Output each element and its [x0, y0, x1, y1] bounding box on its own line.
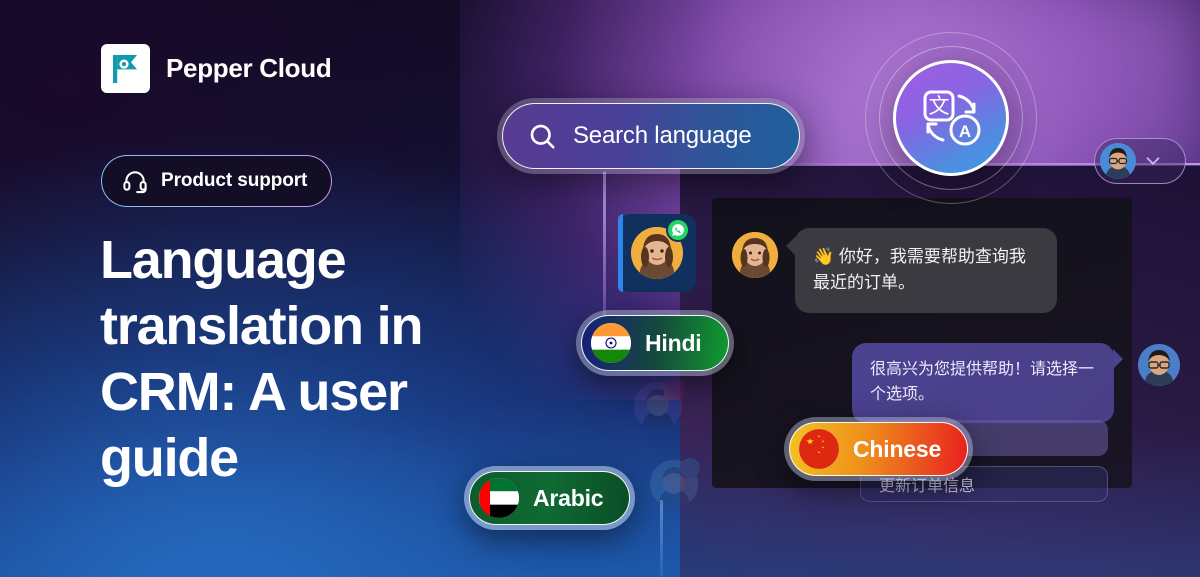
- user-menu-chip[interactable]: [1094, 138, 1186, 184]
- chevron-down-icon[interactable]: [1142, 150, 1164, 172]
- connector-line-vertical: [603, 172, 606, 332]
- language-label: Arabic: [533, 485, 603, 512]
- language-pill-chinese[interactable]: Chinese: [784, 417, 973, 481]
- customer-avatar: [732, 232, 778, 278]
- china-flag-glyph: [799, 429, 839, 469]
- svg-text:A: A: [959, 122, 971, 141]
- incoming-message-text: 你好，我需要帮助查询我最近的订单。: [813, 247, 1026, 292]
- wave-emoji: 👋: [813, 247, 834, 266]
- china-flag-icon: [799, 429, 839, 469]
- translate-icon[interactable]: 文 A: [893, 60, 1009, 176]
- language-pill-hindi-inner[interactable]: Hindi: [581, 315, 729, 371]
- pepper-cloud-logo-icon: [101, 44, 150, 93]
- language-label: Chinese: [853, 436, 941, 463]
- svg-text:文: 文: [929, 94, 950, 118]
- whatsapp-glyph: [671, 223, 685, 237]
- avatar-face-icon: [732, 232, 778, 278]
- chat-bubble-incoming: 👋 你好，我需要帮助查询我最近的订单。: [795, 228, 1057, 313]
- search-input[interactable]: Search language: [573, 122, 751, 150]
- ghost-contact-telegram[interactable]: [650, 460, 698, 508]
- language-label: Hindi: [645, 330, 702, 357]
- product-support-label: Product support: [161, 170, 307, 192]
- translate-glyph: 文 A: [911, 78, 991, 158]
- translate-widget[interactable]: 文 A: [865, 32, 1037, 204]
- avatar-face-icon: [1138, 344, 1180, 386]
- india-flag-glyph: [591, 323, 631, 363]
- page-title: Language translation in CRM: A user guid…: [100, 228, 500, 492]
- brand-name: Pepper Cloud: [166, 53, 331, 84]
- user-avatar: [1100, 143, 1136, 179]
- language-pill-chinese-inner[interactable]: Chinese: [789, 422, 968, 476]
- headset-icon: [122, 168, 148, 194]
- search-icon: [527, 121, 557, 151]
- avatar-face-icon: [1100, 143, 1136, 179]
- search-language-inner[interactable]: Search language: [502, 103, 800, 169]
- chat-bubble-outgoing: 很高兴为您提供帮助！请选择一个选项。: [852, 343, 1114, 423]
- pepper-cloud-logo-glyph: [111, 53, 141, 85]
- instagram-icon: [664, 380, 684, 400]
- language-pill-hindi[interactable]: Hindi: [576, 310, 734, 376]
- agent-avatar: [1138, 344, 1180, 386]
- connector-line-vertical-2: [660, 500, 663, 577]
- india-flag-icon: [591, 323, 631, 363]
- brand-logo[interactable]: Pepper Cloud: [101, 44, 331, 93]
- outgoing-message-text: 很高兴为您提供帮助！请选择一个选项。: [870, 361, 1094, 403]
- product-support-badge[interactable]: Product support: [101, 155, 332, 207]
- whatsapp-icon: [666, 218, 690, 242]
- ghost-contact-instagram[interactable]: [634, 382, 682, 430]
- contact-card[interactable]: [618, 214, 696, 292]
- search-language-pill[interactable]: Search language: [497, 98, 805, 174]
- telegram-icon: [680, 458, 700, 478]
